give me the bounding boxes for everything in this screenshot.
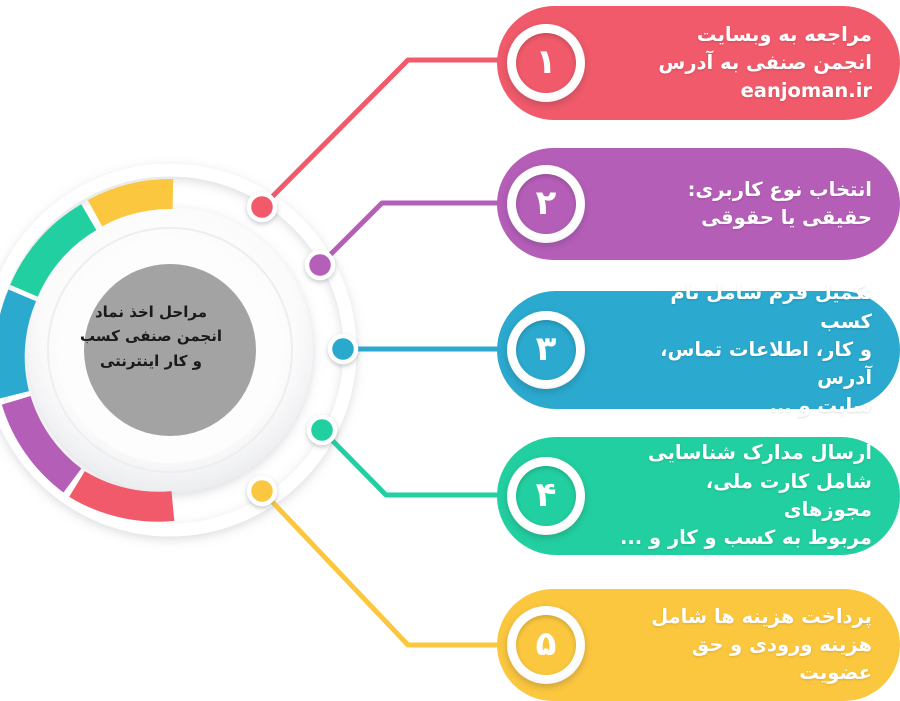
- connector-dot-5: [249, 478, 275, 504]
- step-1-badge[interactable]: ۱: [500, 17, 592, 109]
- connector-dot-1: [249, 194, 275, 220]
- connector-line-1: [262, 60, 540, 207]
- step-2-number: ۲: [536, 186, 557, 220]
- step-5-badge[interactable]: ۵: [500, 599, 592, 691]
- connector-dot-4: [309, 417, 335, 443]
- step-2-badge[interactable]: ۲: [500, 158, 592, 250]
- step-2-text: انتخاب نوع کاربری: حقیقی یا حقوقی: [688, 176, 872, 233]
- step-2-badge-inner: ۲: [516, 174, 576, 234]
- step-4-text: ارسال مدارک شناسایی شامل کارت ملی، مجوزه…: [617, 439, 872, 552]
- center-title: مراحل اخذ نماد انجمن صنفی کسب و کار اینت…: [66, 300, 236, 373]
- step-1-text: مراجعه به وبسایت انجمن صنفی به آدرس eanj…: [658, 21, 872, 106]
- step-1-number: ۱: [536, 45, 557, 79]
- step-5-number: ۵: [536, 627, 557, 661]
- step-4-number: ۴: [536, 478, 557, 512]
- step-1-badge-inner: ۱: [516, 33, 576, 93]
- step-3-badge-inner: ۳: [516, 320, 576, 380]
- connector-dot-3: [330, 336, 356, 362]
- step-5-badge-inner: ۵: [516, 615, 576, 675]
- connector-line-5: [262, 491, 540, 645]
- infographic-root: مراحل اخذ نماد انجمن صنفی کسب و کار اینت…: [0, 0, 900, 700]
- step-4-badge[interactable]: ۴: [500, 450, 592, 542]
- step-3-badge[interactable]: ۳: [500, 304, 592, 396]
- donut-segment-blue: [10, 295, 23, 394]
- connector-dot-2: [307, 252, 333, 278]
- step-3-text: تکمیل فرم شامل نام کسب و کار، اطلاعات تم…: [617, 279, 872, 420]
- step-3-number: ۳: [536, 332, 557, 366]
- step-4-badge-inner: ۴: [516, 466, 576, 526]
- step-5-text: پرداخت هزینه ها شامل هزینه ورودی و حق عض…: [617, 603, 872, 688]
